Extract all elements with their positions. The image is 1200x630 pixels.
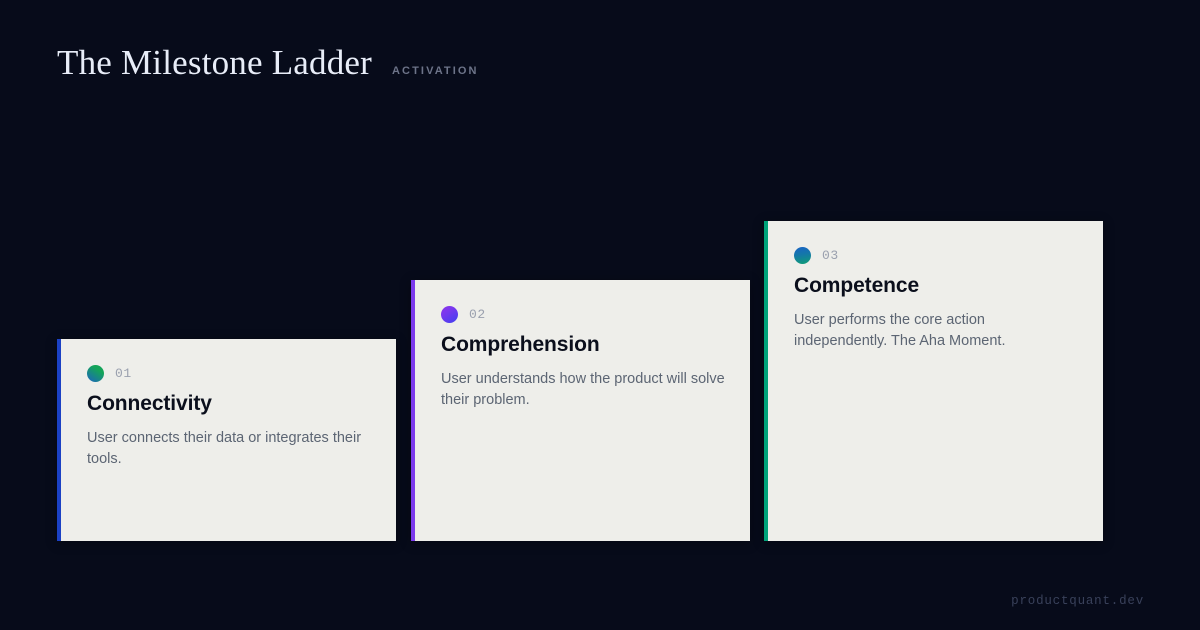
milestone-dot-01-icon xyxy=(87,365,104,382)
card-meta: 02 xyxy=(441,306,726,323)
milestone-card-comprehension[interactable]: 02 Comprehension User understands how th… xyxy=(411,280,750,541)
card-description: User connects their data or integrates t… xyxy=(87,428,372,470)
milestone-card-competence[interactable]: 03 Competence User performs the core act… xyxy=(764,221,1103,541)
card-meta: 03 xyxy=(794,247,1079,264)
card-title: Competence xyxy=(794,273,1079,298)
card-index: 03 xyxy=(822,248,839,263)
card-title: Comprehension xyxy=(441,332,726,357)
milestone-card-connectivity[interactable]: 01 Connectivity User connects their data… xyxy=(57,339,396,541)
milestone-dot-03-icon xyxy=(794,247,811,264)
card-description: User performs the core action independen… xyxy=(794,310,1079,352)
card-index: 02 xyxy=(469,307,486,322)
milestone-ladder: 01 Connectivity User connects their data… xyxy=(0,0,1200,630)
card-index: 01 xyxy=(115,366,132,381)
footer-brand: productquant.dev xyxy=(1011,594,1144,608)
card-meta: 01 xyxy=(87,365,372,382)
card-description: User understands how the product will so… xyxy=(441,369,726,411)
card-title: Connectivity xyxy=(87,391,372,416)
milestone-dot-02-icon xyxy=(441,306,458,323)
